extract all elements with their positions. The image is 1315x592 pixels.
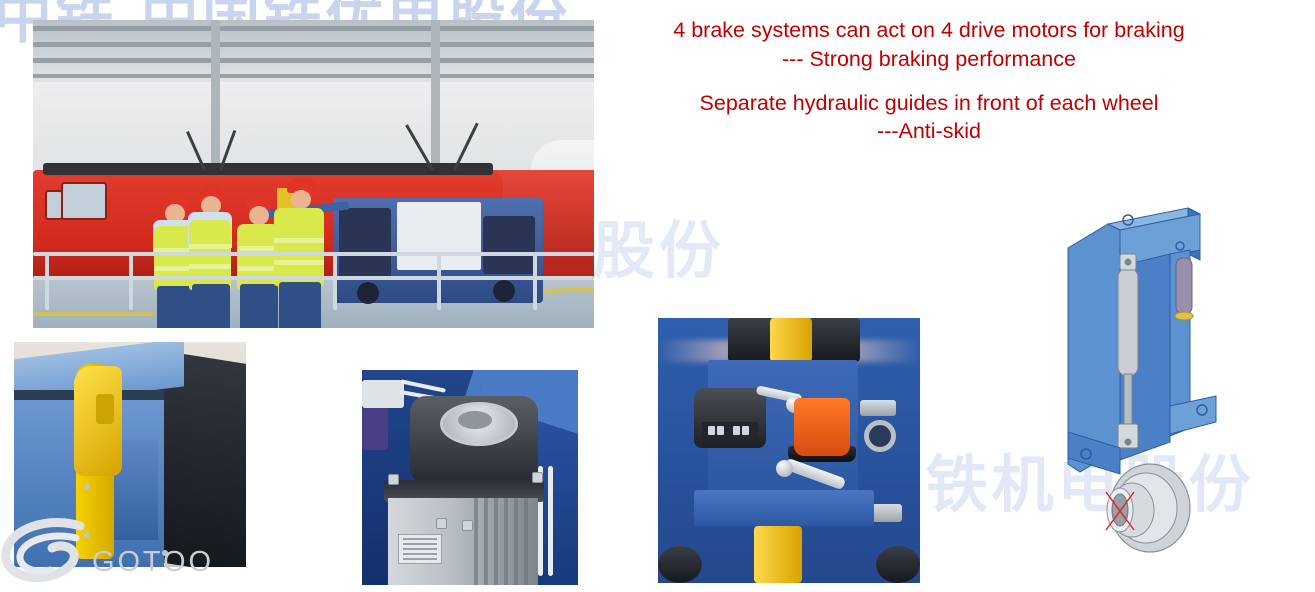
cad-seal-ring [1175, 312, 1193, 320]
roller [876, 546, 920, 583]
cable-junction-box [362, 380, 404, 408]
photo-depot [33, 20, 594, 328]
railing-post [129, 252, 133, 310]
photo-clamp [14, 342, 246, 567]
roller [810, 318, 860, 362]
bracket-pin [162, 550, 168, 556]
railing-bar [33, 276, 594, 280]
roller [728, 318, 774, 362]
caption-line-1: 4 brake systems can act on 4 drive motor… [640, 16, 1218, 45]
platform-railing [33, 252, 594, 328]
roof-beam [33, 42, 594, 47]
caption-line-4: ---Anti-skid [640, 117, 1218, 146]
cooling-fin [494, 498, 498, 585]
counter-digit [742, 426, 749, 435]
caption-paragraph-1: 4 brake systems can act on 4 drive motor… [640, 16, 1218, 74]
bracket-pin [84, 484, 90, 490]
cooling-fin [504, 498, 508, 585]
bracket-pin [84, 532, 90, 538]
counter-digit [733, 426, 740, 435]
worker-head [249, 206, 269, 225]
metal-bracket [860, 400, 896, 416]
vest-reflector [274, 238, 324, 243]
cooling-fin [484, 498, 488, 585]
locomotive-roof [43, 163, 493, 175]
cooling-fin [524, 498, 528, 585]
motor-bolt [436, 518, 447, 529]
motor-bolt [532, 472, 543, 483]
railing-post [437, 252, 441, 310]
brake-disc-center [458, 411, 492, 429]
hall-column [431, 20, 440, 170]
railing-post [533, 252, 537, 310]
roof-beam [33, 58, 594, 63]
railing-bar [33, 252, 594, 256]
motor-bolt [388, 474, 399, 485]
caption-block: 4 brake systems can act on 4 drive motor… [640, 16, 1218, 146]
yellow-guide [770, 318, 812, 362]
bracket-ring [864, 420, 896, 452]
counter-digit [717, 426, 724, 435]
cad-hydraulic-cylinder [1118, 268, 1138, 376]
purple-component [362, 408, 388, 450]
railing-post [333, 252, 337, 310]
motor-nameplate [398, 534, 442, 564]
cad-pin-lower [1125, 439, 1132, 446]
roof-beam [33, 26, 594, 31]
counter-display [702, 422, 758, 439]
railing-post [45, 252, 49, 310]
vest-reflector [189, 244, 231, 249]
motor-cable [548, 466, 553, 576]
cooling-fin [474, 498, 478, 585]
slide-canvas: 中铁 中国铁优电股份 中铁机电股份 中铁机电股份 [0, 0, 1315, 592]
caption-line-2: --- Strong braking performance [640, 45, 1218, 74]
photo-motor [362, 370, 578, 585]
caption-paragraph-2: Separate hydraulic guides in front of ea… [640, 89, 1218, 147]
hall-column [211, 20, 220, 180]
cab-window [45, 190, 63, 220]
cooling-fin [514, 498, 518, 585]
control-box [694, 388, 766, 448]
cab-window [61, 182, 107, 220]
orange-beacon-lamp [794, 398, 850, 456]
panel-shelf-lower [694, 490, 874, 526]
roller [658, 546, 702, 583]
motor-bolt [462, 520, 473, 531]
cad-bushing [1176, 258, 1192, 314]
yellow-guide [754, 526, 802, 583]
clamp-notch [96, 394, 114, 424]
worker-head [291, 190, 311, 209]
roof-beam [33, 74, 594, 78]
lever-knob[interactable] [776, 460, 793, 477]
photo-panel [658, 318, 920, 583]
cad-hydraulic-guide [1050, 196, 1250, 562]
cad-pin-upper [1125, 259, 1132, 266]
caption-line-3: Separate hydraulic guides in front of ea… [640, 89, 1218, 118]
counter-digit [708, 426, 715, 435]
